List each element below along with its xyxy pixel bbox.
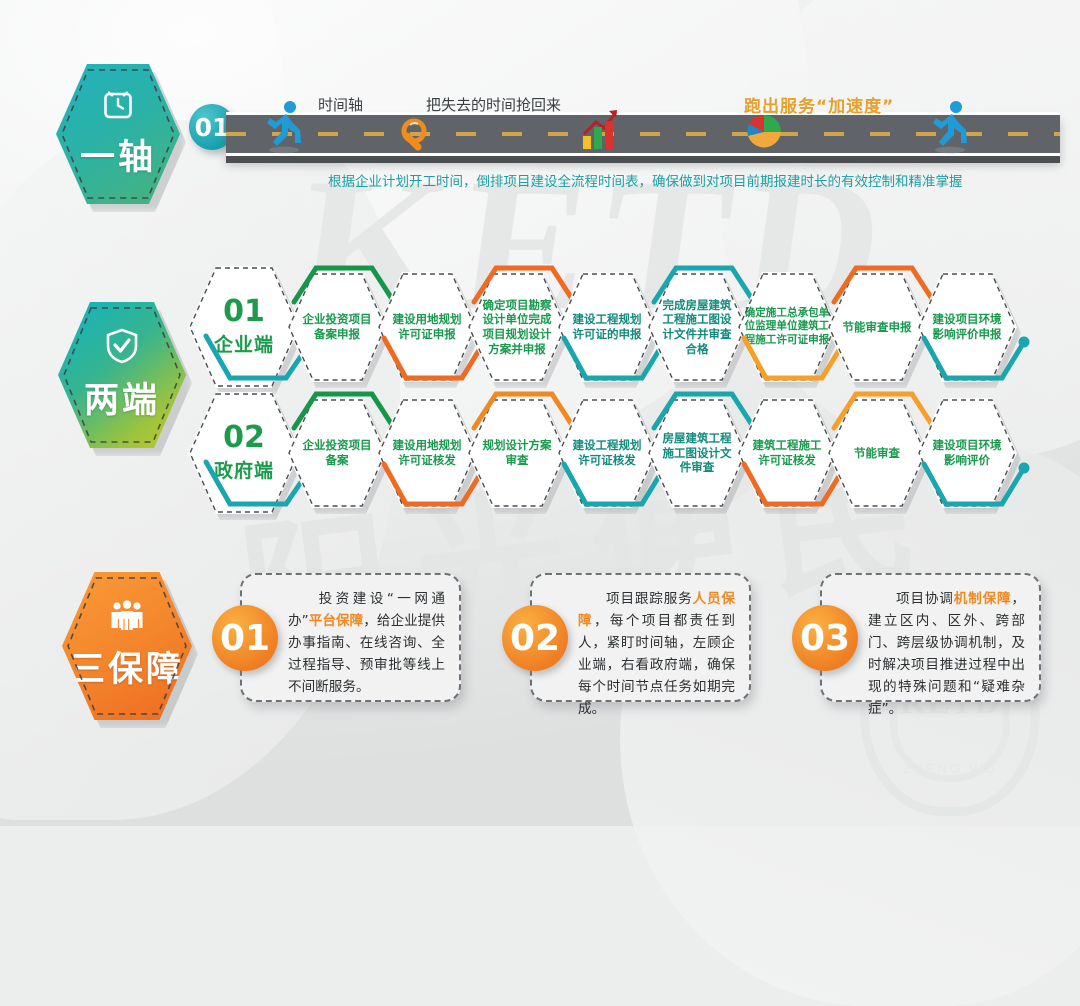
card-text-3: 项目协调机制保障，建立区内、区外、跨部门、跨层级协调机制，及时解决项目推进过程中… — [822, 575, 1039, 732]
card-text-part: ，建立区内、区外、跨部门、跨层级协调机制，及时解决项目推进过程中出现的特殊问题和… — [868, 591, 1025, 717]
card-text-part: ，每个项目都责任到人，紧盯时间轴，左顾企业端，右看政府端，确保每个时间节点任务如… — [578, 613, 735, 717]
guarantee-cards: 01 投资建设“一网通办”平台保障，给企业提供办事指南、在线咨询、全过程指导、预… — [0, 0, 1080, 826]
card-text-highlight: 平台保障 — [309, 613, 364, 629]
card-text-part: 项目跟踪服务 — [605, 591, 692, 607]
card-text-highlight: 机制保障 — [954, 591, 1012, 607]
card-badge[interactable]: 03 — [792, 605, 858, 671]
card-text-part: 项目协调 — [895, 591, 954, 607]
card-badge[interactable]: 02 — [502, 605, 568, 671]
card-text-2: 项目跟踪服务人员保障，每个项目都责任到人，紧盯时间轴，左顾企业端，右看政府端，确… — [532, 575, 749, 732]
card-badge[interactable]: 01 — [212, 605, 278, 671]
